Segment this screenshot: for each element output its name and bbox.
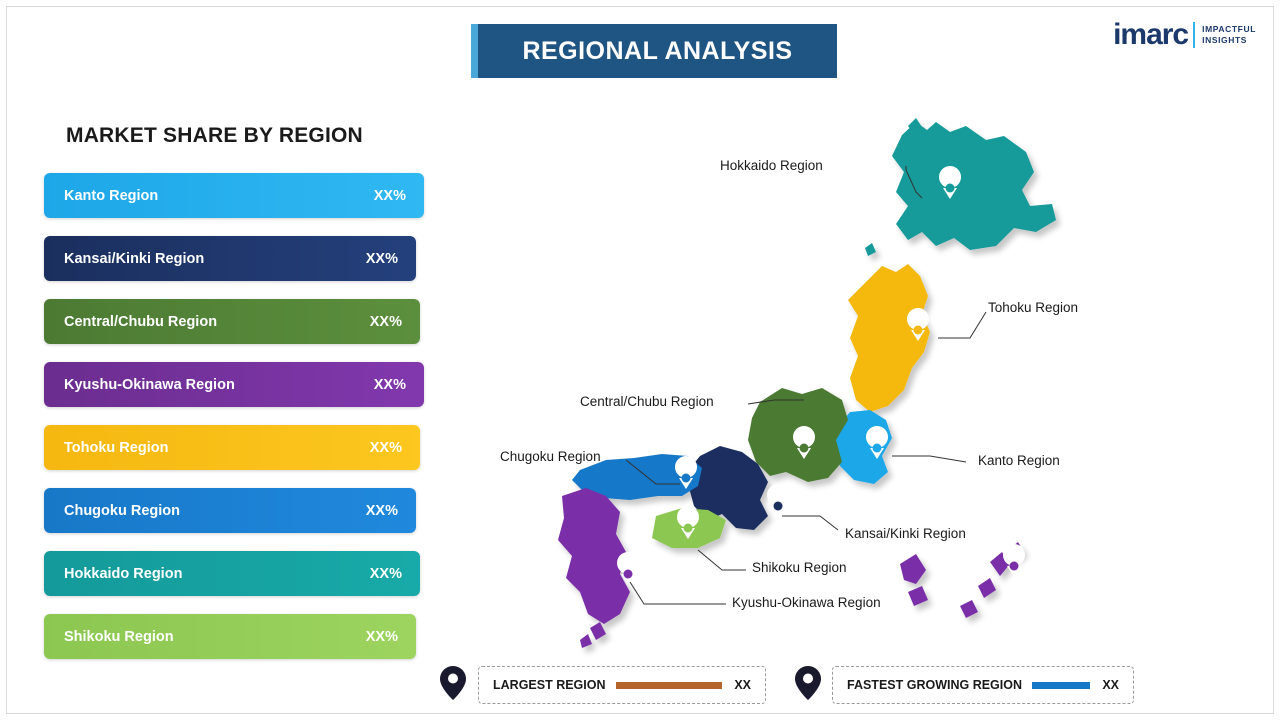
fastest-growing-region-bar [1032,682,1090,689]
fastest-growing-region-pin-icon [795,666,821,700]
largest-region-pin-icon [440,666,466,700]
region-shape-hokkaido[interactable] [892,122,1056,250]
legend-label: Chugoku Region [64,503,366,519]
legend-title: MARKET SHARE BY REGION [66,124,363,148]
legend-label: Kyushu-Okinawa Region [64,377,374,393]
legend-label: Kanto Region [64,188,374,204]
logo-divider [1193,22,1195,48]
region-shape-okinawa-6[interactable] [960,600,978,618]
legend-row-central-chubu[interactable]: Central/Chubu Region XX% [44,299,420,344]
legend-label: Shikoku Region [64,629,366,645]
japan-map-svg [430,100,1270,660]
fastest-growing-region-label: FASTEST GROWING REGION [847,678,1022,692]
logo-tagline-line1: IMPACTFUL [1202,24,1256,35]
map-label-central-chubu: Central/Chubu Region [580,394,714,409]
page-title-banner: REGIONAL ANALYSIS [471,24,837,78]
logo-tagline-line2: INSIGHTS [1202,35,1256,46]
legend-row-kanto[interactable]: Kanto Region XX% [44,173,424,218]
map-label-kansai-kinki: Kansai/Kinki Region [845,526,966,541]
region-shape-okinawa-5[interactable] [908,586,928,606]
legend-label: Hokkaido Region [64,566,370,582]
legend-row-hokkaido[interactable]: Hokkaido Region XX% [44,551,420,596]
logo-wordmark: imarc [1113,18,1188,52]
region-shape-okinawa-4[interactable] [900,554,926,584]
legend-label: Kansai/Kinki Region [64,251,366,267]
legend-value: XX% [374,188,406,204]
fastest-growing-region-value: XX [1102,678,1119,692]
largest-region-value: XX [734,678,751,692]
legend-row-chugoku[interactable]: Chugoku Region XX% [44,488,416,533]
legend-value: XX% [370,566,402,582]
legend-value: XX% [366,251,398,267]
map-pin-okinawa[interactable] [1003,544,1025,577]
legend-row-kansai-kinki[interactable]: Kansai/Kinki Region XX% [44,236,416,281]
legend-value: XX% [366,503,398,519]
largest-region-label: LARGEST REGION [493,678,606,692]
logo-word-text: imarc [1113,18,1188,51]
map-label-kyushu-okinawa: Kyushu-Okinawa Region [732,595,881,610]
region-shape-okinawa-2[interactable] [978,578,996,598]
legend-list: Kanto Region XX% Kansai/Kinki Region XX%… [44,173,428,677]
region-shape-hokkaido-islet2 [865,243,876,256]
legend-value: XX% [374,377,406,393]
map-pin-kansai-kinki[interactable] [767,484,789,517]
legend-value: XX% [370,314,402,330]
imarc-logo: imarc IMPACTFUL INSIGHTS [1113,18,1256,52]
page-title: REGIONAL ANALYSIS [522,37,792,66]
map-label-shikoku: Shikoku Region [752,560,847,575]
largest-region-bar [616,682,723,689]
region-shape-kyushu-islet2 [580,634,592,648]
map-label-kanto: Kanto Region [978,453,1060,468]
legend-row-shikoku[interactable]: Shikoku Region XX% [44,614,416,659]
legend-row-tohoku[interactable]: Tohoku Region XX% [44,425,420,470]
legend-value: XX% [366,629,398,645]
map-label-hokkaido: Hokkaido Region [720,158,823,173]
map-label-tohoku: Tohoku Region [988,300,1078,315]
fastest-growing-region-box: FASTEST GROWING REGION XX [832,666,1134,704]
legend-row-kyushu-okinawa[interactable]: Kyushu-Okinawa Region XX% [44,362,424,407]
map-label-chugoku: Chugoku Region [500,449,601,464]
region-shape-kyushu[interactable] [558,488,630,624]
japan-map: Hokkaido Region Tohoku Region Central/Ch… [430,100,1270,660]
logo-tagline: IMPACTFUL INSIGHTS [1202,24,1256,45]
legend-label: Central/Chubu Region [64,314,370,330]
region-shape-kyushu-islet [590,622,606,640]
legend-label: Tohoku Region [64,440,370,456]
largest-region-box: LARGEST REGION XX [478,666,766,704]
legend-value: XX% [370,440,402,456]
